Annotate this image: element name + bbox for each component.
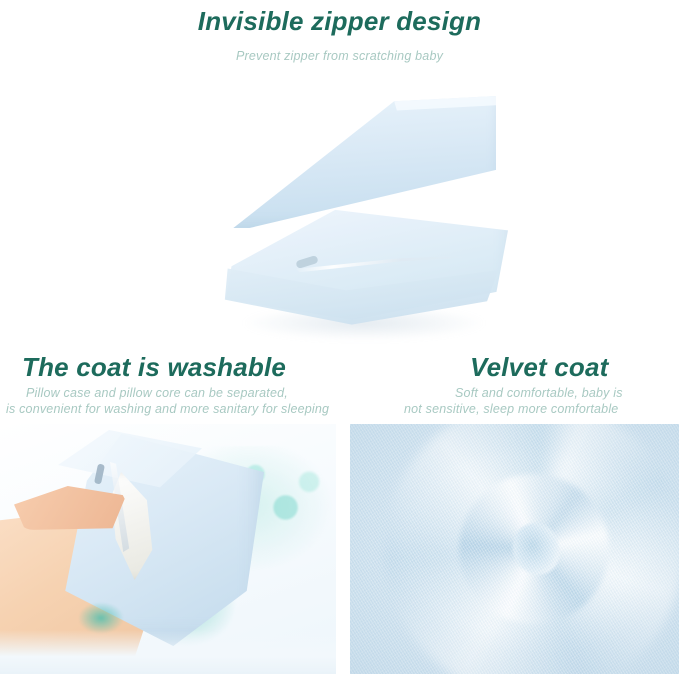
bottom-right-subtitle-line1: Soft and comfortable, baby is: [455, 386, 623, 400]
bottom-right-heading: Velvet coat: [470, 352, 609, 383]
pillow-back-flap: [228, 96, 496, 228]
product-photo-washable: [0, 424, 336, 674]
bottom-right-subtitle-line2: not sensitive, sleep more comfortable: [404, 402, 618, 416]
top-heading: Invisible zipper design: [0, 6, 679, 37]
photo-vignette: [350, 424, 679, 674]
bottom-left-subtitle-line2: is convenient for washing and more sanit…: [6, 402, 329, 416]
product-photo-velvet: [350, 424, 679, 674]
bottom-left-heading: The coat is washable: [22, 352, 286, 383]
wedge-pillow-illustration: [200, 88, 520, 350]
bottom-left-subtitle-line1: Pillow case and pillow core can be separ…: [26, 386, 288, 400]
top-subtitle: Prevent zipper from scratching baby: [0, 49, 679, 63]
table-surface: [0, 630, 336, 674]
infographic-page: Invisible zipper design Prevent zipper f…: [0, 0, 679, 674]
product-photo-zipper: [200, 88, 520, 350]
